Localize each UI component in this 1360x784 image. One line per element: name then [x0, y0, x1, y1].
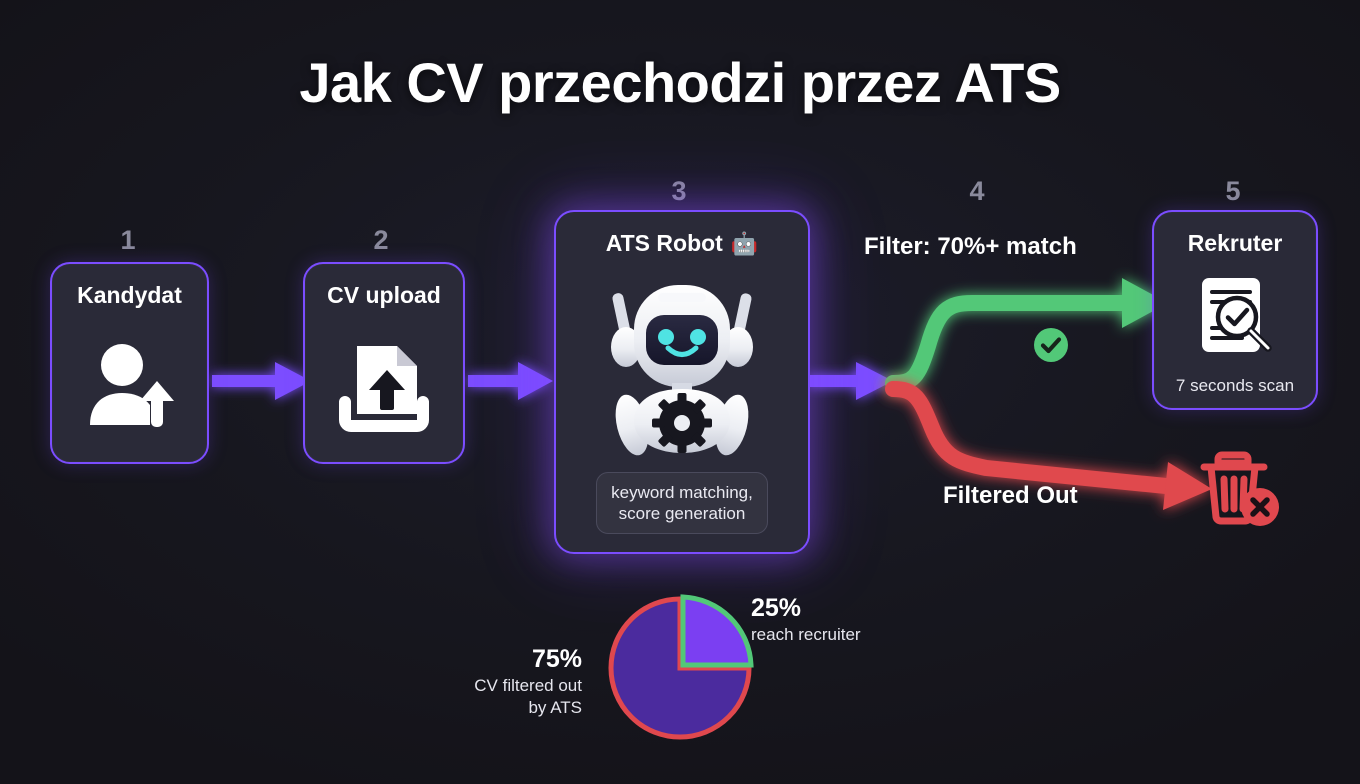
step-card-ats-robot[interactable]: ATS Robot 🤖	[554, 210, 810, 554]
step-card-title: Kandydat	[77, 282, 182, 309]
check-circle-icon	[1032, 326, 1070, 369]
pie-label-reach-recruiter: 25% reach recruiter	[751, 592, 951, 646]
document-magnifier-icon	[1194, 257, 1276, 376]
rekruter-subtitle: 7 seconds scan	[1176, 376, 1294, 396]
pie-percent-reach: 25%	[751, 592, 951, 624]
person-upload-icon	[82, 309, 178, 462]
filtered-out-label: Filtered Out	[943, 482, 1078, 510]
step-number-1: 1	[98, 225, 158, 256]
branch-accepted-arrow	[893, 278, 1168, 383]
page-title: Jak CV przechodzi przez ATS	[0, 50, 1360, 115]
ats-robot-caption: keyword matching, score generation	[596, 472, 768, 535]
arrow-step2-step3	[468, 362, 553, 400]
infographic-canvas: Jak CV przechodzi przez ATS	[0, 0, 1360, 784]
step-card-kandydat[interactable]: Kandydat	[50, 262, 209, 464]
pie-percent-filtered: 75%	[420, 643, 582, 675]
robot-emoji-icon: 🤖	[731, 231, 758, 257]
pie-chart	[605, 593, 755, 743]
step-number-2: 2	[351, 225, 411, 256]
pie-slice-reach-recruiter	[683, 597, 751, 665]
step-card-title: Rekruter	[1188, 230, 1283, 257]
trash-x-icon	[1196, 443, 1282, 534]
pie-label-filtered-out: 75% CV filtered out by ATS	[420, 643, 582, 719]
arrow-step3-branch	[808, 362, 893, 400]
filter-threshold-label: Filter: 70%+ match	[864, 233, 1077, 261]
step-number-3: 3	[649, 176, 709, 207]
robot-icon	[598, 257, 766, 472]
step-card-rekruter[interactable]: Rekruter 7 seconds scan	[1152, 210, 1318, 410]
step-card-title: CV upload	[327, 282, 441, 309]
step-number-5: 5	[1203, 176, 1263, 207]
arrow-step1-step2	[212, 362, 311, 400]
step-card-title: ATS Robot 🤖	[606, 230, 759, 257]
step-number-4: 4	[947, 176, 1007, 207]
step-card-cv-upload[interactable]: CV upload	[303, 262, 465, 464]
file-upload-icon	[337, 309, 431, 462]
